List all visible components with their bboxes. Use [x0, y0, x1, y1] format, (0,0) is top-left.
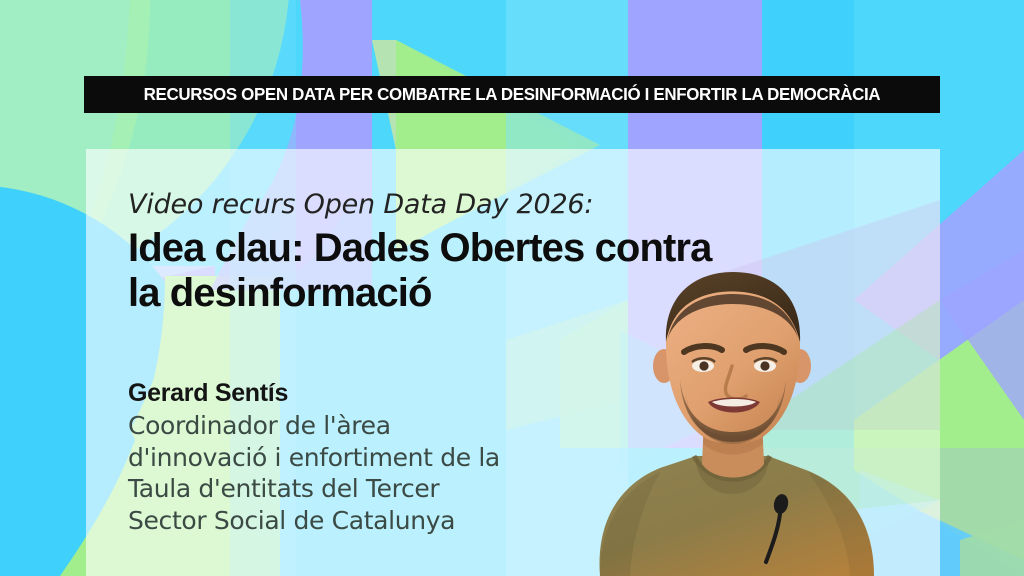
page-title-line-1: Idea clau: Dades Obertes contra	[128, 226, 711, 270]
speaker-name: Gerard Sentís	[128, 378, 598, 408]
speaker-role-line-1: Coordinador de l'àrea	[128, 410, 598, 442]
header-banner-text: RECURSOS OPEN DATA PER COMBATRE LA DESIN…	[144, 84, 881, 105]
title-block: Video recurs Open Data Day 2026: Idea cl…	[128, 190, 888, 316]
page-title: Idea clau: Dades Obertes contrala desinf…	[128, 226, 873, 316]
speaker-role-line-3: Taula d'entitats del Tercer	[128, 473, 598, 505]
slide-canvas: RECURSOS OPEN DATA PER COMBATRE LA DESIN…	[0, 0, 1024, 576]
speaker-role: Coordinador de l'àrea d'innovació i enfo…	[128, 410, 598, 536]
eyebrow-text: Video recurs Open Data Day 2026:	[128, 190, 888, 220]
speaker-role-line-4: Sector Social de Catalunya	[128, 505, 598, 537]
page-title-line-2: la desinformació	[128, 271, 431, 315]
header-banner: RECURSOS OPEN DATA PER COMBATRE LA DESIN…	[84, 76, 940, 113]
speaker-block: Gerard Sentís Coordinador de l'àrea d'in…	[128, 378, 598, 536]
speaker-role-line-2: d'innovació i enfortiment de la	[128, 442, 598, 474]
